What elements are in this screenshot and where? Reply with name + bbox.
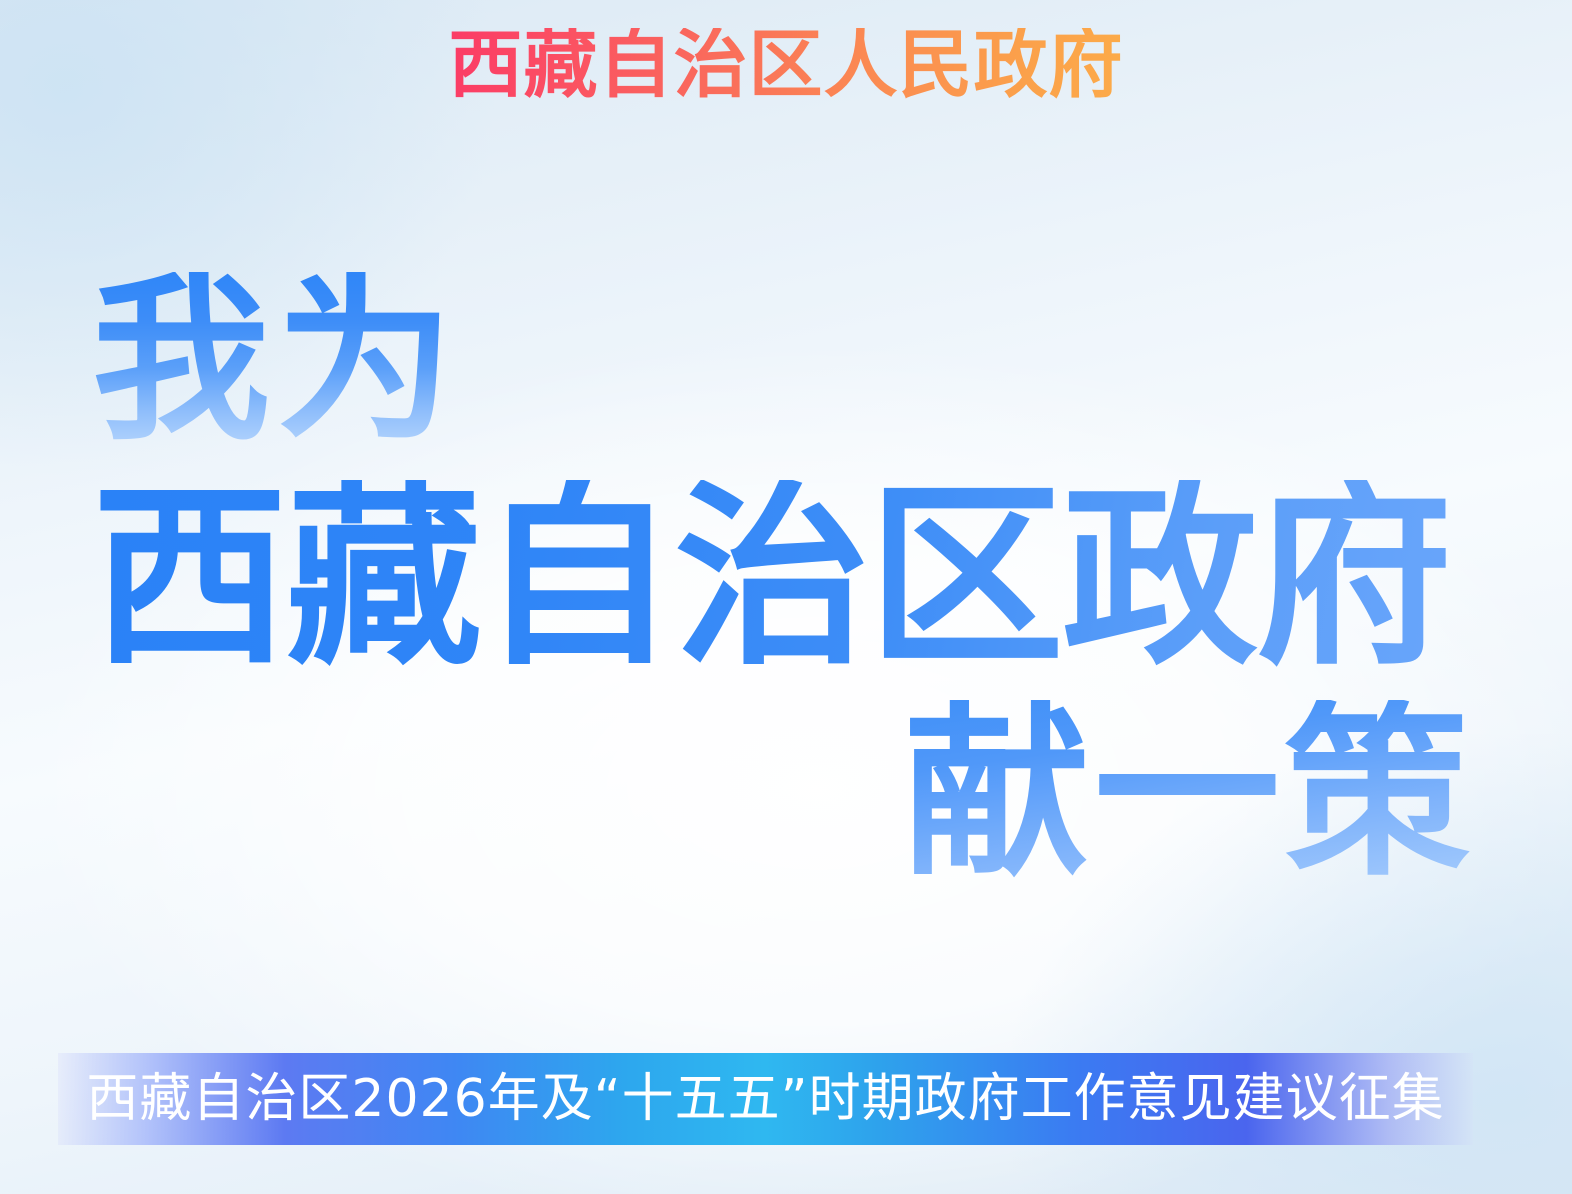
headline-line-3: 献一策 bbox=[92, 700, 1474, 896]
headline-line-2: 西藏自治区政府 bbox=[92, 480, 1474, 680]
org-title: 西藏自治区人民政府 bbox=[449, 28, 1124, 102]
headline-block: 我为 西藏自治区政府 献一策 bbox=[92, 272, 1474, 896]
org-header: 西藏自治区人民政府 bbox=[0, 28, 1572, 102]
campaign-banner: 西藏自治区2026年及“十五五”时期政府工作意见建议征集 bbox=[58, 1053, 1473, 1145]
poster-canvas: 西藏自治区人民政府 我为 西藏自治区政府 献一策 西藏自治区2026年及“十五五… bbox=[0, 0, 1572, 1194]
campaign-banner-text: 西藏自治区2026年及“十五五”时期政府工作意见建议征集 bbox=[86, 1073, 1444, 1125]
headline-line-1: 我为 bbox=[92, 272, 1474, 456]
